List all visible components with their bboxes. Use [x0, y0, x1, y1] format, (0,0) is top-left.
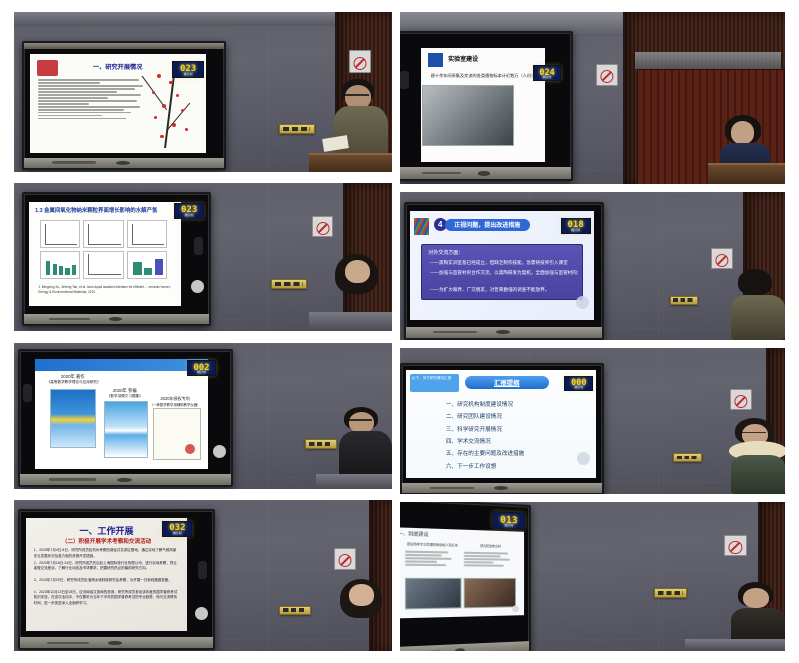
collage-panel-6: 以下，关于研究情况汇报 汇报提纲 000 倒计时 一、研究机构制度建设情况 二、…	[400, 348, 785, 494]
podium	[708, 163, 785, 184]
desk	[309, 312, 392, 331]
no-smoking-sign	[349, 50, 371, 73]
book-cover-1	[50, 389, 95, 448]
eyeglasses-icon	[349, 419, 372, 421]
board-bottom-bezel	[406, 327, 602, 338]
head	[345, 260, 370, 283]
no-smoking-sign	[312, 216, 334, 237]
board-bottom-bezel	[400, 641, 529, 651]
figure-grid	[40, 220, 168, 278]
figure-cell-a	[40, 220, 81, 248]
countdown-timer: 013 倒计时	[493, 511, 526, 530]
board-power-button[interactable]	[191, 280, 204, 293]
outline-item: 四、学术交流情况	[446, 437, 583, 445]
report-item: 2、2020年7月18日-24日，研究所成员先后赴上海国际旅行社有限公司，进行实…	[34, 561, 180, 576]
collage-panel-5: 2020年 著作 《高等数学教学理论与应用研究》 2020年 参编 《数学讲概又…	[14, 343, 392, 489]
countdown-timer: 023 倒计时	[174, 203, 204, 219]
door-transom-glass	[635, 52, 781, 69]
slide-logo-icon	[414, 218, 429, 235]
countdown-timer: 023 倒计时	[172, 61, 204, 78]
publication-1: 2020年 著作 《高等数学教学理论与应用研究》	[47, 374, 99, 385]
patent-certificate	[153, 408, 202, 460]
board-side-button[interactable]	[400, 71, 409, 89]
wall-outlet	[271, 279, 307, 288]
photo-collage: 一、研究开展情况	[0, 0, 799, 663]
bullet-item: ——加强与监管村的合作交流，以黑陶研发为契机，全面加强与监管村的合作。	[430, 270, 578, 276]
smartboard: 实验室建设 建十余年间采集及交流的各类植物标本计近数万（人份） 024 倒计时	[400, 31, 573, 181]
countdown-timer: 000 倒计时	[564, 376, 593, 391]
lab-photo	[422, 85, 514, 146]
figure-cell-b	[83, 220, 124, 248]
publication-name: 《数学讲概又习题集》	[99, 394, 151, 399]
listener-figure	[731, 269, 785, 340]
slide-header-band	[35, 359, 209, 371]
smartboard: 一、制度建设 研究所学术与管理机构组成人员名单 研究所建章立制	[400, 502, 531, 651]
smartboard: 一、工作开展 （二）积极开展学术考察和交流活动 1、2020年7月4日-8日，研…	[18, 509, 215, 650]
torso	[731, 455, 785, 494]
collage-panel-2: 实验室建设 建十余年间采集及交流的各类植物标本计近数万（人份） 024 倒计时	[400, 12, 785, 184]
slide-title: 一、制度建设	[400, 531, 429, 538]
board-power-button[interactable]	[512, 605, 519, 612]
figure-cell-e	[83, 251, 124, 279]
slide-surface: 一、研究开展情况	[30, 54, 206, 153]
wall-outlet	[279, 606, 311, 616]
presenter-figure	[731, 418, 785, 494]
room-scene: 1.3 金属间氧化物纳米颗粒界面增长影响的水解产氢 1. Mingx	[14, 183, 392, 331]
room-scene: 以下，关于研究情况汇报 汇报提纲 000 倒计时 一、研究机构制度建设情况 二、…	[400, 348, 785, 494]
smartboard: 2020年 著作 《高等数学教学理论与应用研究》 2020年 参编 《数学讲概又…	[18, 349, 234, 487]
figure-cell-c	[127, 220, 168, 248]
outline-item: 五、存在的主要问题及改进措施	[446, 449, 583, 457]
slide-surface: 实验室建设 建十余年间采集及交流的各类植物标本计近数万（人份）	[421, 48, 546, 162]
smartboard: 1.3 金属间氧化物纳米颗粒界面增长影响的水解产氢 1. Mingx	[22, 192, 211, 326]
left-block-heading: 研究所学术与管理机构组成人员名单	[405, 542, 460, 548]
figure-cell-d	[40, 251, 81, 279]
wall-outlet	[654, 588, 687, 597]
board-power-button[interactable]	[213, 445, 226, 458]
countdown-timer: 018 倒计时	[561, 218, 591, 234]
slide-title: 实验室建设	[448, 54, 478, 63]
collage-panel-8: 一、制度建设 研究所学术与管理机构组成人员名单 研究所建章立制	[400, 502, 785, 651]
head	[743, 588, 769, 609]
collage-panel-7: 一、工作开展 （二）积极开展学术考察和交流活动 1、2020年7月4日-8日，研…	[14, 500, 392, 651]
wall-outlet	[670, 296, 699, 305]
publication-name: （一种数学教学用辅助教学仪器）	[146, 402, 205, 407]
report-item: 3、2020年7月29日，研究所成员赴淄博太城种族研究会考察，为开展一日新线路做…	[34, 578, 180, 588]
collage-panel-4: 4 正视问题，提出改进措施 018 倒计时 对外交流方面： ——黑陶实训室基已经…	[400, 192, 785, 340]
slide-surface: 一、制度建设 研究所学术与管理机构组成人员名单 研究所建章立制	[400, 527, 524, 619]
room-scene: 一、工作开展 （二）积极开展学术考察和交流活动 1、2020年7月4日-8日，研…	[14, 500, 392, 651]
board-bottom-bezel	[20, 474, 232, 485]
room-scene: 一、制度建设 研究所学术与管理机构组成人员名单 研究所建章立制	[400, 502, 785, 651]
countdown-timer: 032 倒计时	[162, 521, 192, 537]
room-scene: 2020年 著作 《高等数学教学理论与应用研究》 2020年 参编 《数学讲概又…	[14, 343, 392, 489]
slide-title: 1.3 金属间氧化物纳米颗粒界面增长影响的水解产氢	[35, 206, 175, 214]
smartboard: 一、研究开展情况	[22, 41, 226, 170]
podium	[309, 153, 392, 172]
board-bottom-bezel	[24, 158, 224, 168]
left-text-block	[405, 549, 457, 567]
outline-item: 三、科学研究开展情况	[446, 425, 583, 433]
bullet-heading: 对外交流方面：	[428, 249, 463, 256]
no-smoking-sign	[724, 535, 746, 556]
board-bottom-bezel	[400, 167, 571, 179]
wall-outlet	[673, 453, 702, 462]
publication-name: 《高等数学教学理论与应用研究》	[47, 380, 99, 385]
eyeglasses-icon	[345, 94, 369, 96]
eyeglasses-icon	[742, 432, 766, 434]
right-text-block	[464, 550, 514, 568]
slide-citation: 1. Mingxing Xu, Jinfeng Tan, et al. Ioni…	[38, 285, 172, 295]
room-scene: 实验室建设 建十余年间采集及交流的各类植物标本计近数万（人份） 024 倒计时	[400, 12, 785, 184]
head	[731, 121, 754, 144]
slide-title: 汇报提纲	[465, 376, 549, 389]
outline-item: 二、研究团队建设情况	[446, 412, 583, 420]
slide-surface: 以下，关于研究情况汇报 汇报提纲 000 倒计时 一、研究机构制度建设情况 二、…	[406, 370, 596, 478]
slide-subtitle: （二）积极开展学术考察和交流活动	[26, 537, 188, 545]
publication-3: 2020年授权专利 （一种数学教学用辅助教学仪器）	[146, 396, 205, 407]
desk	[316, 474, 392, 489]
bullet-item: ——为扩大眼界、广交朋友，对普黄勤强的调查不能放弃。	[430, 287, 578, 293]
countdown-timer: 024 倒计时	[533, 65, 561, 81]
wall-outlet	[279, 124, 315, 134]
book-cover-2	[104, 401, 148, 458]
smartboard: 4 正视问题，提出改进措施 018 倒计时 对外交流方面： ——黑陶实训室基已经…	[404, 202, 604, 339]
board-power-button[interactable]	[577, 452, 590, 465]
board-power-button[interactable]	[195, 607, 208, 620]
right-block-heading: 研究所建章立制	[464, 543, 517, 548]
board-side-button[interactable]	[194, 237, 203, 255]
board-bottom-bezel	[24, 314, 209, 324]
no-smoking-sign	[730, 389, 752, 410]
slide-title-pill: 正视问题，提出改进措施	[445, 219, 530, 231]
slide-surface: 4 正视问题，提出改进措施 018 倒计时 对外交流方面： ——黑陶实训室基已经…	[410, 211, 595, 320]
bullet-item: ——黑陶实训室基已经成立，但缺乏制作技能，急需将技师引入课堂	[430, 260, 578, 266]
presenter-figure	[335, 579, 392, 651]
head	[743, 275, 769, 296]
slide-subtitle: 建十余年间采集及交流的各类植物标本计近数万（人份）	[428, 73, 538, 79]
torso	[336, 610, 390, 651]
outline-list: 一、研究机构制度建设情况 二、研究团队建设情况 三、科学研究开展情况 四、学术交…	[446, 400, 583, 470]
room-scene: 4 正视问题，提出改进措施 018 倒计时 对外交流方面： ——黑陶实训室基已经…	[400, 192, 785, 340]
meeting-photo-2	[464, 577, 516, 608]
slide-corner-note: 以下，关于研究情况汇报	[410, 374, 459, 392]
bullet-box: 对外交流方面： ——黑陶实训室基已经成立，但缺乏制作技能，急需将技师引入课堂 —…	[421, 244, 584, 301]
slide-surface: 1.3 金属间氧化物纳米颗粒界面增长影响的水解产氢 1. Mingx	[29, 202, 181, 306]
collage-panel-1: 一、研究开展情况	[14, 12, 392, 172]
countdown-timer: 002 倒计时	[187, 360, 216, 376]
no-smoking-sign	[711, 248, 733, 269]
report-item: 1、2020年7月4日-8日，研究所成员赴杭州考察西湖龙井名茶区基地，通过实地了…	[34, 548, 180, 558]
figure-cell-f	[127, 251, 168, 279]
slide-body	[38, 78, 147, 121]
outline-item: 一、研究机构制度建设情况	[446, 400, 583, 408]
meeting-photo-1	[405, 577, 462, 609]
slide-logo-icon	[428, 53, 443, 67]
head	[349, 584, 374, 606]
board-bottom-bezel	[20, 637, 213, 648]
smartboard: 以下，关于研究情况汇报 汇报提纲 000 倒计时 一、研究机构制度建设情况 二、…	[400, 363, 604, 494]
board-top-bezel	[24, 43, 224, 49]
report-item: 4、2020年11月13日至18日，应河南省文旅局的邀请，研究所成员参加该年度的…	[34, 590, 180, 613]
wall-outlet	[305, 439, 337, 448]
room-scene: 一、研究开展情况	[14, 12, 392, 172]
publication-2: 2020年 参编 《数学讲概又习题集》	[99, 388, 151, 399]
board-side-button[interactable]	[23, 384, 32, 402]
no-smoking-sign	[596, 64, 618, 87]
no-smoking-sign	[334, 548, 356, 570]
board-bottom-bezel	[402, 483, 602, 493]
certificate-stamp	[185, 444, 195, 454]
slide-seal-icon	[37, 60, 58, 76]
collage-panel-3: 1.3 金属间氧化物纳米颗粒界面增长影响的水解产氢 1. Mingx	[14, 183, 392, 331]
torso	[731, 295, 785, 340]
outline-item: 六、下一步工作设想	[446, 462, 583, 470]
board-side-button[interactable]	[198, 561, 207, 579]
board-power-button[interactable]	[576, 296, 589, 309]
slide-surface: 2020年 著作 《高等数学教学理论与应用研究》 2020年 参编 《数学讲概又…	[35, 359, 209, 469]
desk	[685, 639, 785, 651]
